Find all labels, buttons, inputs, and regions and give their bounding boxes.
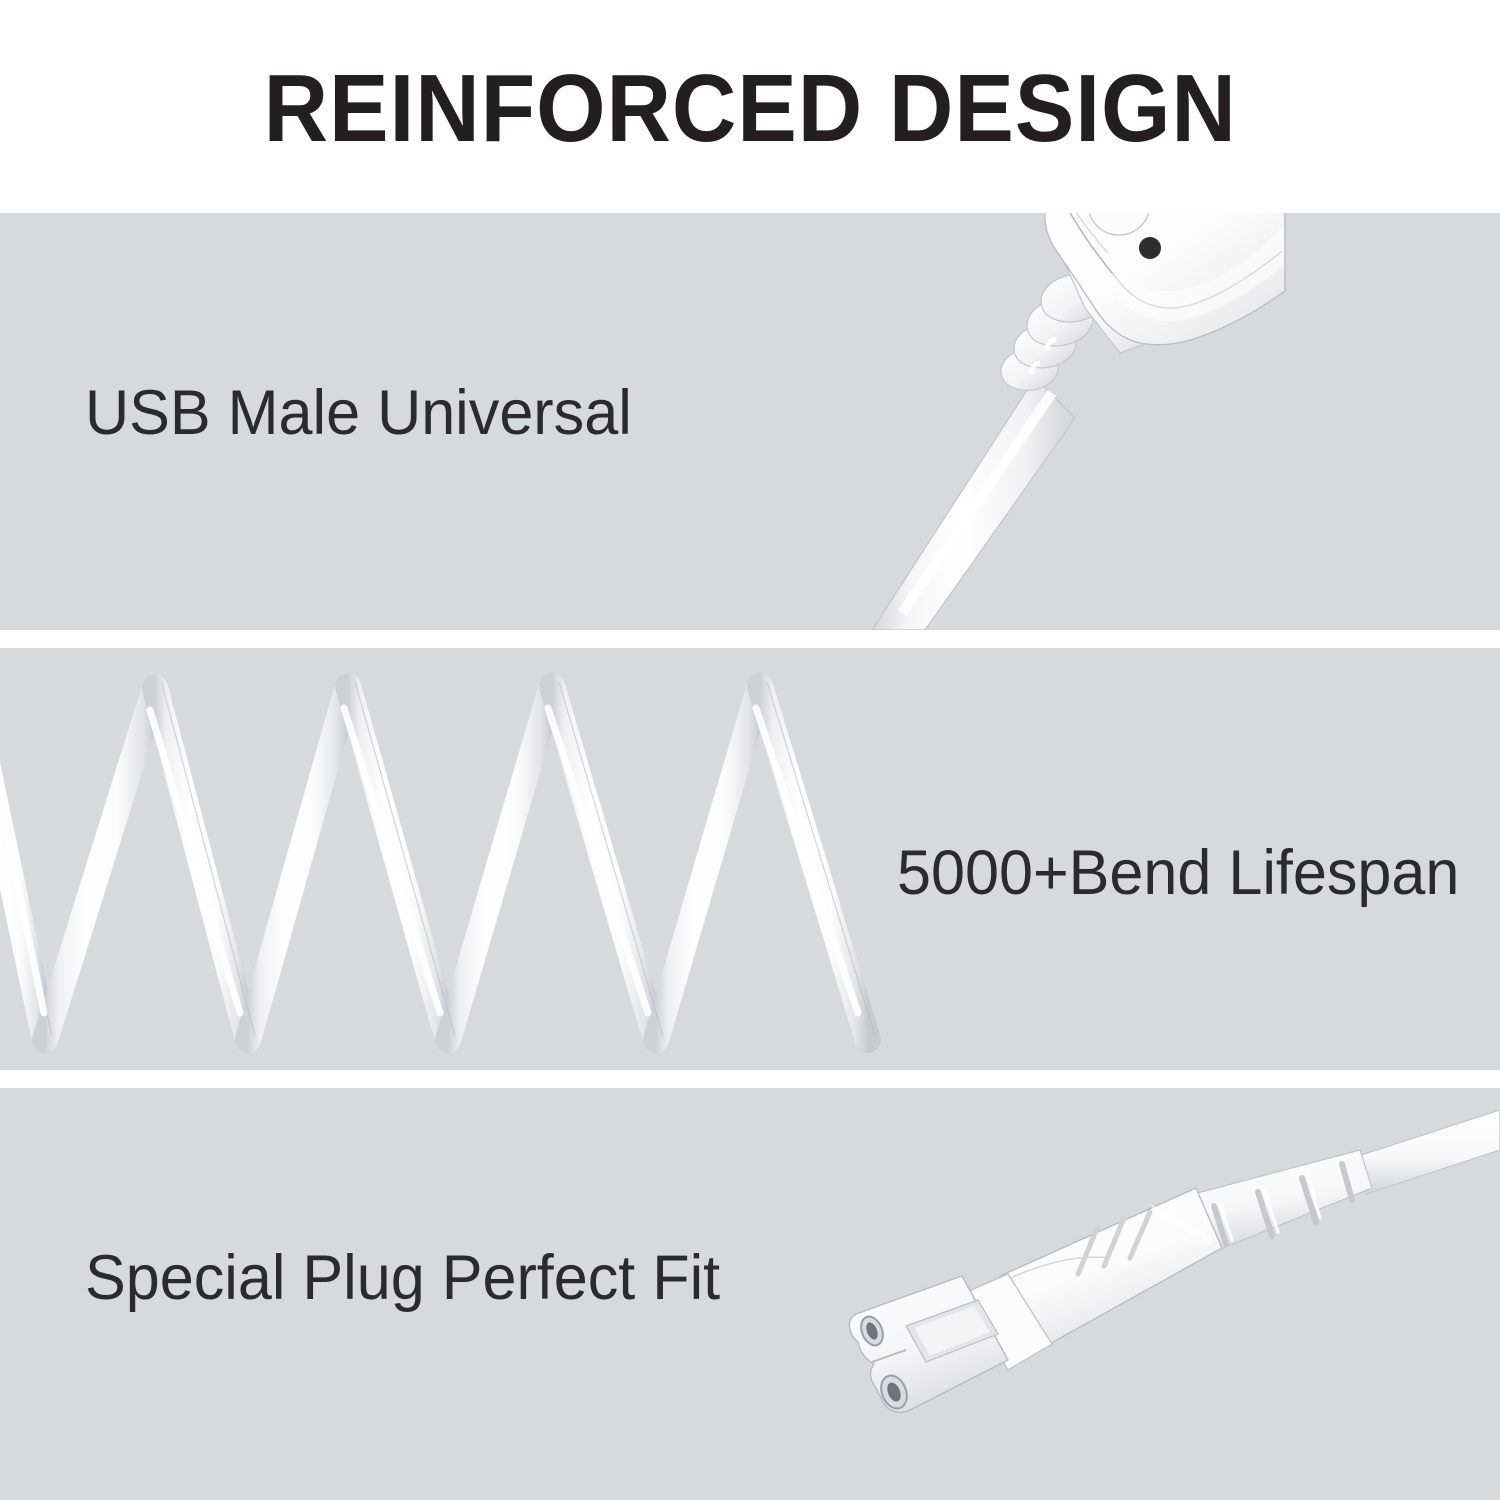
caption-usb-male: USB Male Universal (85, 382, 632, 445)
product-infographic: REINFORCED DESIGN (0, 0, 1500, 1500)
page-title: REINFORCED DESIGN (263, 61, 1236, 157)
caption-bend-lifespan: 5000+Bend Lifespan (897, 842, 1459, 905)
caption-special-plug: Special Plug Perfect Fit (85, 1247, 720, 1310)
header-banner: REINFORCED DESIGN (0, 0, 1500, 213)
usb-indicator-dot (1139, 237, 1161, 259)
plug-cable (1352, 1110, 1500, 1194)
